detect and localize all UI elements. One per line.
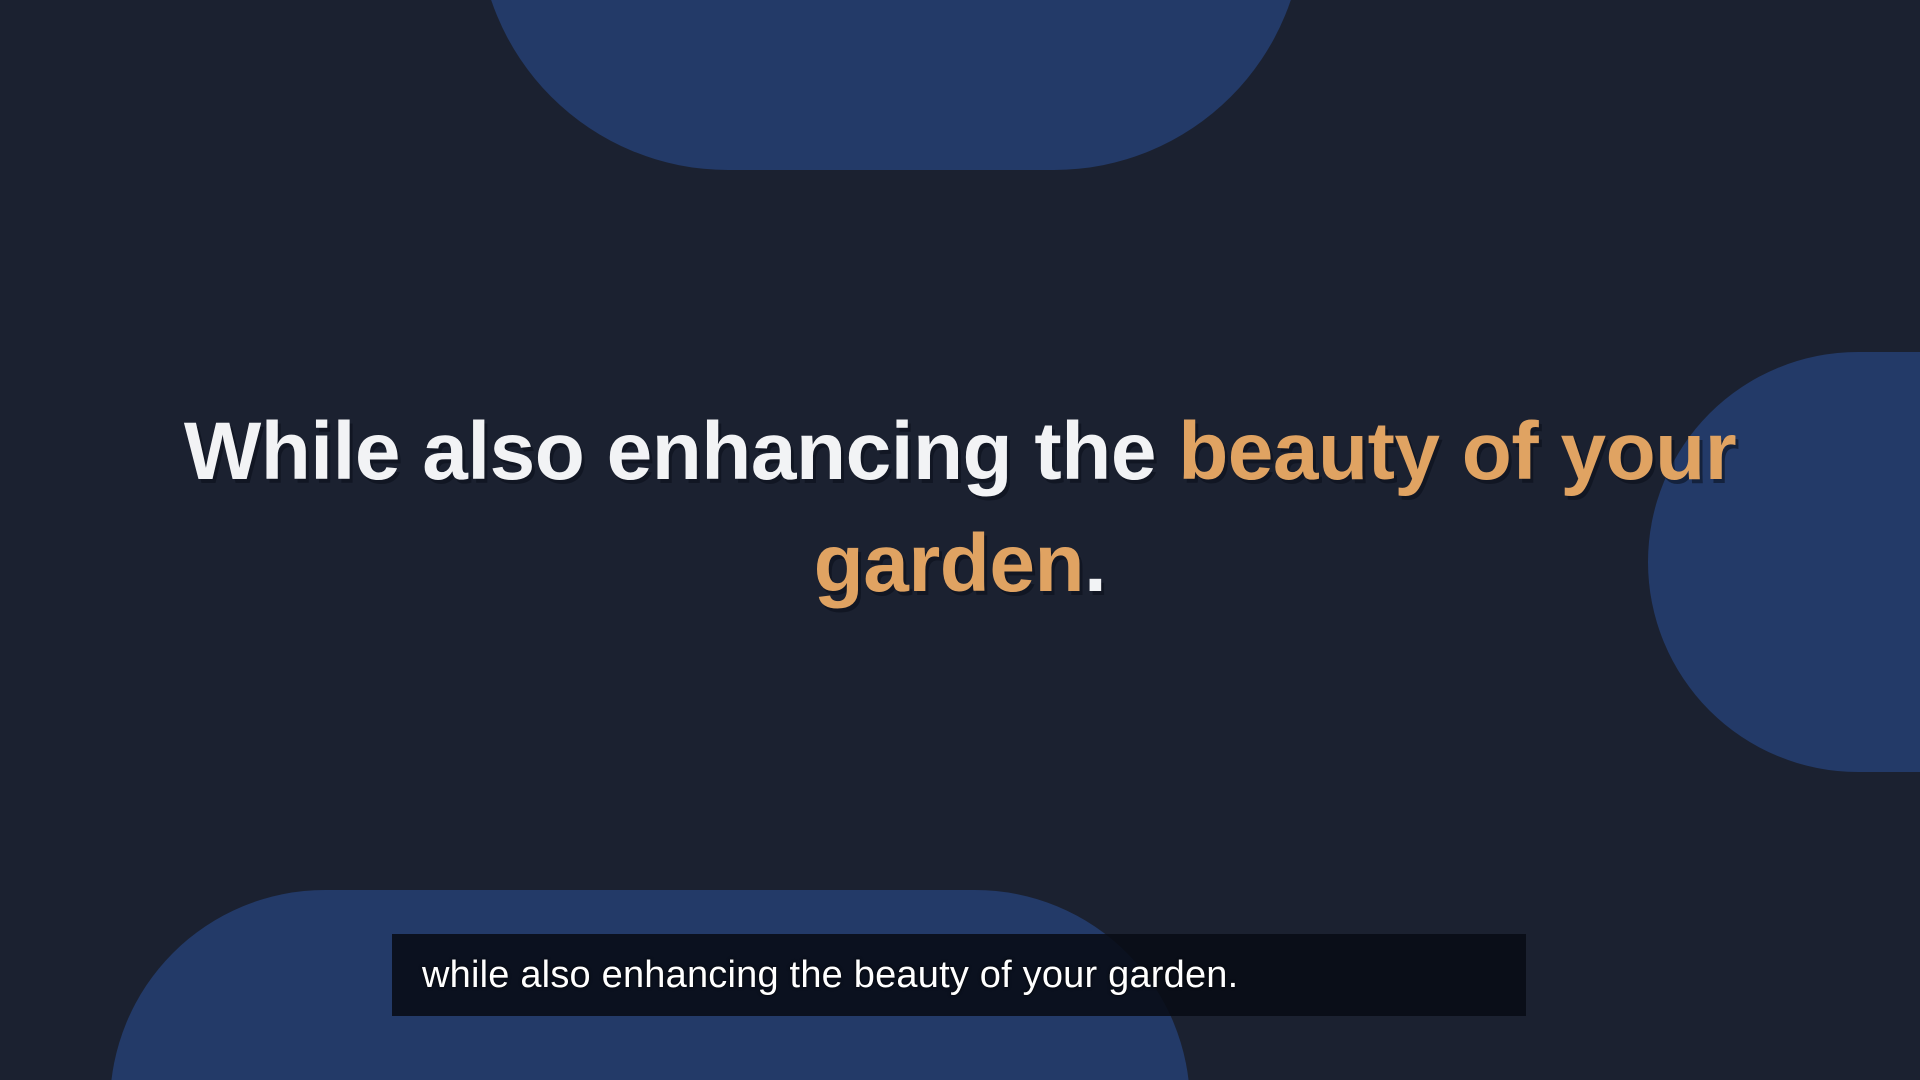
video-frame: While also enhancing the beauty of your … xyxy=(0,0,1920,1080)
caption-text: while also enhancing the beauty of your … xyxy=(422,954,1238,997)
headline: While also enhancing the beauty of your … xyxy=(0,396,1920,620)
headline-segment-white-lead: While also enhancing the xyxy=(184,406,1178,497)
decor-shape-top-rounded-rectangle xyxy=(478,0,1304,170)
caption-bar: while also enhancing the beauty of your … xyxy=(392,934,1526,1016)
headline-segment-white-trail: . xyxy=(1084,518,1106,609)
